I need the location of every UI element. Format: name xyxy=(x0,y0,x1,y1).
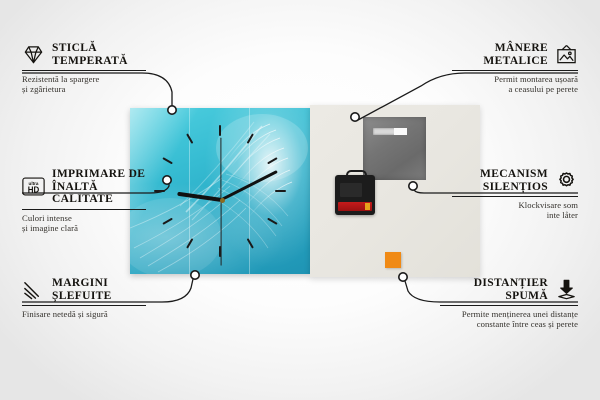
down-arrow-pad-icon xyxy=(555,278,578,301)
clock-tick xyxy=(219,125,221,136)
callout-rule xyxy=(452,70,578,71)
clock-front-face xyxy=(130,108,310,274)
callout-title: MARGINI ȘLEFUITE xyxy=(52,277,112,302)
callout-title: DISTANȚIER SPUMĂ xyxy=(474,277,548,302)
callout-title: STICLĂ TEMPERATĂ xyxy=(52,42,128,67)
callout-subtitle: Finisare netedă și sigură xyxy=(22,309,146,319)
battery xyxy=(338,202,372,211)
clock-tick xyxy=(154,190,165,192)
clock-second-hand xyxy=(220,200,221,266)
ultra-hd-icon: ultra HD xyxy=(22,175,45,198)
diagonal-lines-icon xyxy=(22,278,45,301)
callout-subtitle: Klockvisare som inte låter xyxy=(452,200,578,220)
callout-rule xyxy=(452,196,578,197)
callout-title: MECANISM SILENȚIOS xyxy=(480,168,548,193)
callout-subtitle: Permit montarea ușoară a ceasului pe per… xyxy=(452,74,578,94)
callout-title: MÂNERE METALICE xyxy=(483,42,548,67)
callout-rule xyxy=(440,305,578,306)
clock-mechanism-box xyxy=(335,175,375,215)
callout-hd-print: ultra HD IMPRIMARE DE ÎNALTĂ CALITATE Cu… xyxy=(22,168,146,233)
clock-second-hand-tail xyxy=(220,138,221,200)
clock-center-cap xyxy=(220,198,225,203)
callout-polished-edges: MARGINI ȘLEFUITE Finisare netedă și sigu… xyxy=(22,277,146,319)
callout-rule xyxy=(22,70,146,71)
hanger-slot xyxy=(373,128,407,135)
callout-rule xyxy=(22,305,146,306)
product-image xyxy=(130,105,480,277)
svg-text:HD: HD xyxy=(28,186,40,195)
foam-spacer-block xyxy=(385,252,401,268)
mechanism-bail xyxy=(346,170,367,180)
hanger-plate xyxy=(363,117,426,180)
callout-title: IMPRIMARE DE ÎNALTĂ CALITATE xyxy=(52,168,146,206)
diamond-icon xyxy=(22,43,45,66)
picture-frame-icon xyxy=(555,43,578,66)
clock-tick xyxy=(275,190,286,192)
infographic-canvas: STICLĂ TEMPERATĂ Rezistentă la spargere … xyxy=(0,0,600,400)
callout-subtitle: Culori intense și imagine clară xyxy=(22,213,146,233)
gear-icon xyxy=(555,169,578,192)
callout-rule xyxy=(22,209,146,210)
callout-metal-handles: MÂNERE METALICE Permit montarea ușoară a… xyxy=(452,42,578,94)
callout-subtitle: Rezistentă la spargere și zgârietura xyxy=(22,74,146,94)
callout-foam-spacer: DISTANȚIER SPUMĂ Permite menținerea unei… xyxy=(440,277,578,329)
callout-tempered-glass: STICLĂ TEMPERATĂ Rezistentă la spargere … xyxy=(22,42,146,94)
callout-silent-mechanism: MECANISM SILENȚIOS Klockvisare som inte … xyxy=(452,168,578,220)
mechanism-grill xyxy=(340,183,362,197)
callout-subtitle: Permite menținerea unei distanțe constan… xyxy=(440,309,578,329)
